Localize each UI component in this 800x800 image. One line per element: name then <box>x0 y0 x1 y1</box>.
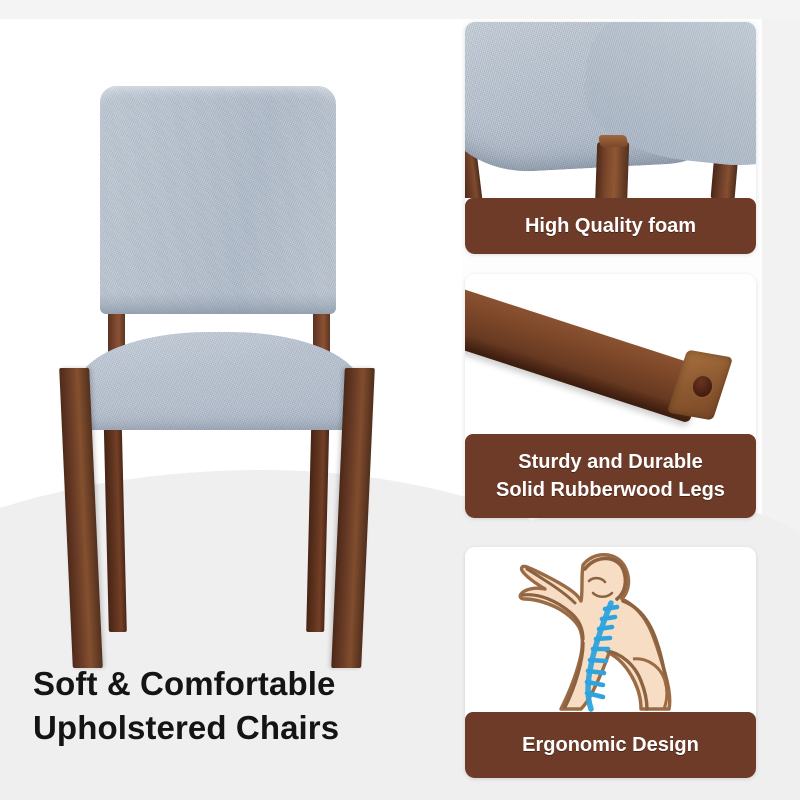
headline-line-1: Soft & Comfortable <box>33 662 453 706</box>
chair-seat-cushion <box>76 332 362 430</box>
feature-card-ergonomic-design[interactable]: Ergonomic Design <box>465 547 756 778</box>
headline: Soft & Comfortable Upholstered Chairs <box>33 662 453 750</box>
chair-leg-back-right <box>306 400 330 632</box>
feature-photo-ergonomic <box>465 547 756 712</box>
feature-card-high-quality-foam[interactable]: High Quality foam <box>465 22 756 254</box>
feature-photo-leg <box>465 274 756 434</box>
feature-label-ergonomic-design: Ergonomic Design <box>465 712 756 778</box>
feature-label-text-line-1: Sturdy and Durable <box>518 448 702 476</box>
feature-label-text: High Quality foam <box>525 215 696 238</box>
feature-card-sturdy-durable-legs[interactable]: Sturdy and Durable Solid Rubberwood Legs <box>465 274 756 518</box>
headline-line-2: Upholstered Chairs <box>33 706 453 750</box>
spine-posture-icon <box>465 547 756 712</box>
product-feature-graphic: Soft & Comfortable Upholstered Chairs Hi… <box>0 0 800 800</box>
chair-leg-back-left <box>103 400 127 632</box>
feature-label-high-quality-foam: High Quality foam <box>465 198 756 254</box>
background-top-band <box>0 0 800 19</box>
hero-chair-image <box>60 70 400 670</box>
chair-backrest <box>100 86 336 314</box>
closeup-leg-center <box>595 142 629 198</box>
feature-label-text: Ergonomic Design <box>522 734 699 757</box>
feature-label-text-line-2: Solid Rubberwood Legs <box>496 476 725 504</box>
feature-photo-foam <box>465 22 756 198</box>
feature-label-sturdy-durable-legs: Sturdy and Durable Solid Rubberwood Legs <box>465 434 756 518</box>
